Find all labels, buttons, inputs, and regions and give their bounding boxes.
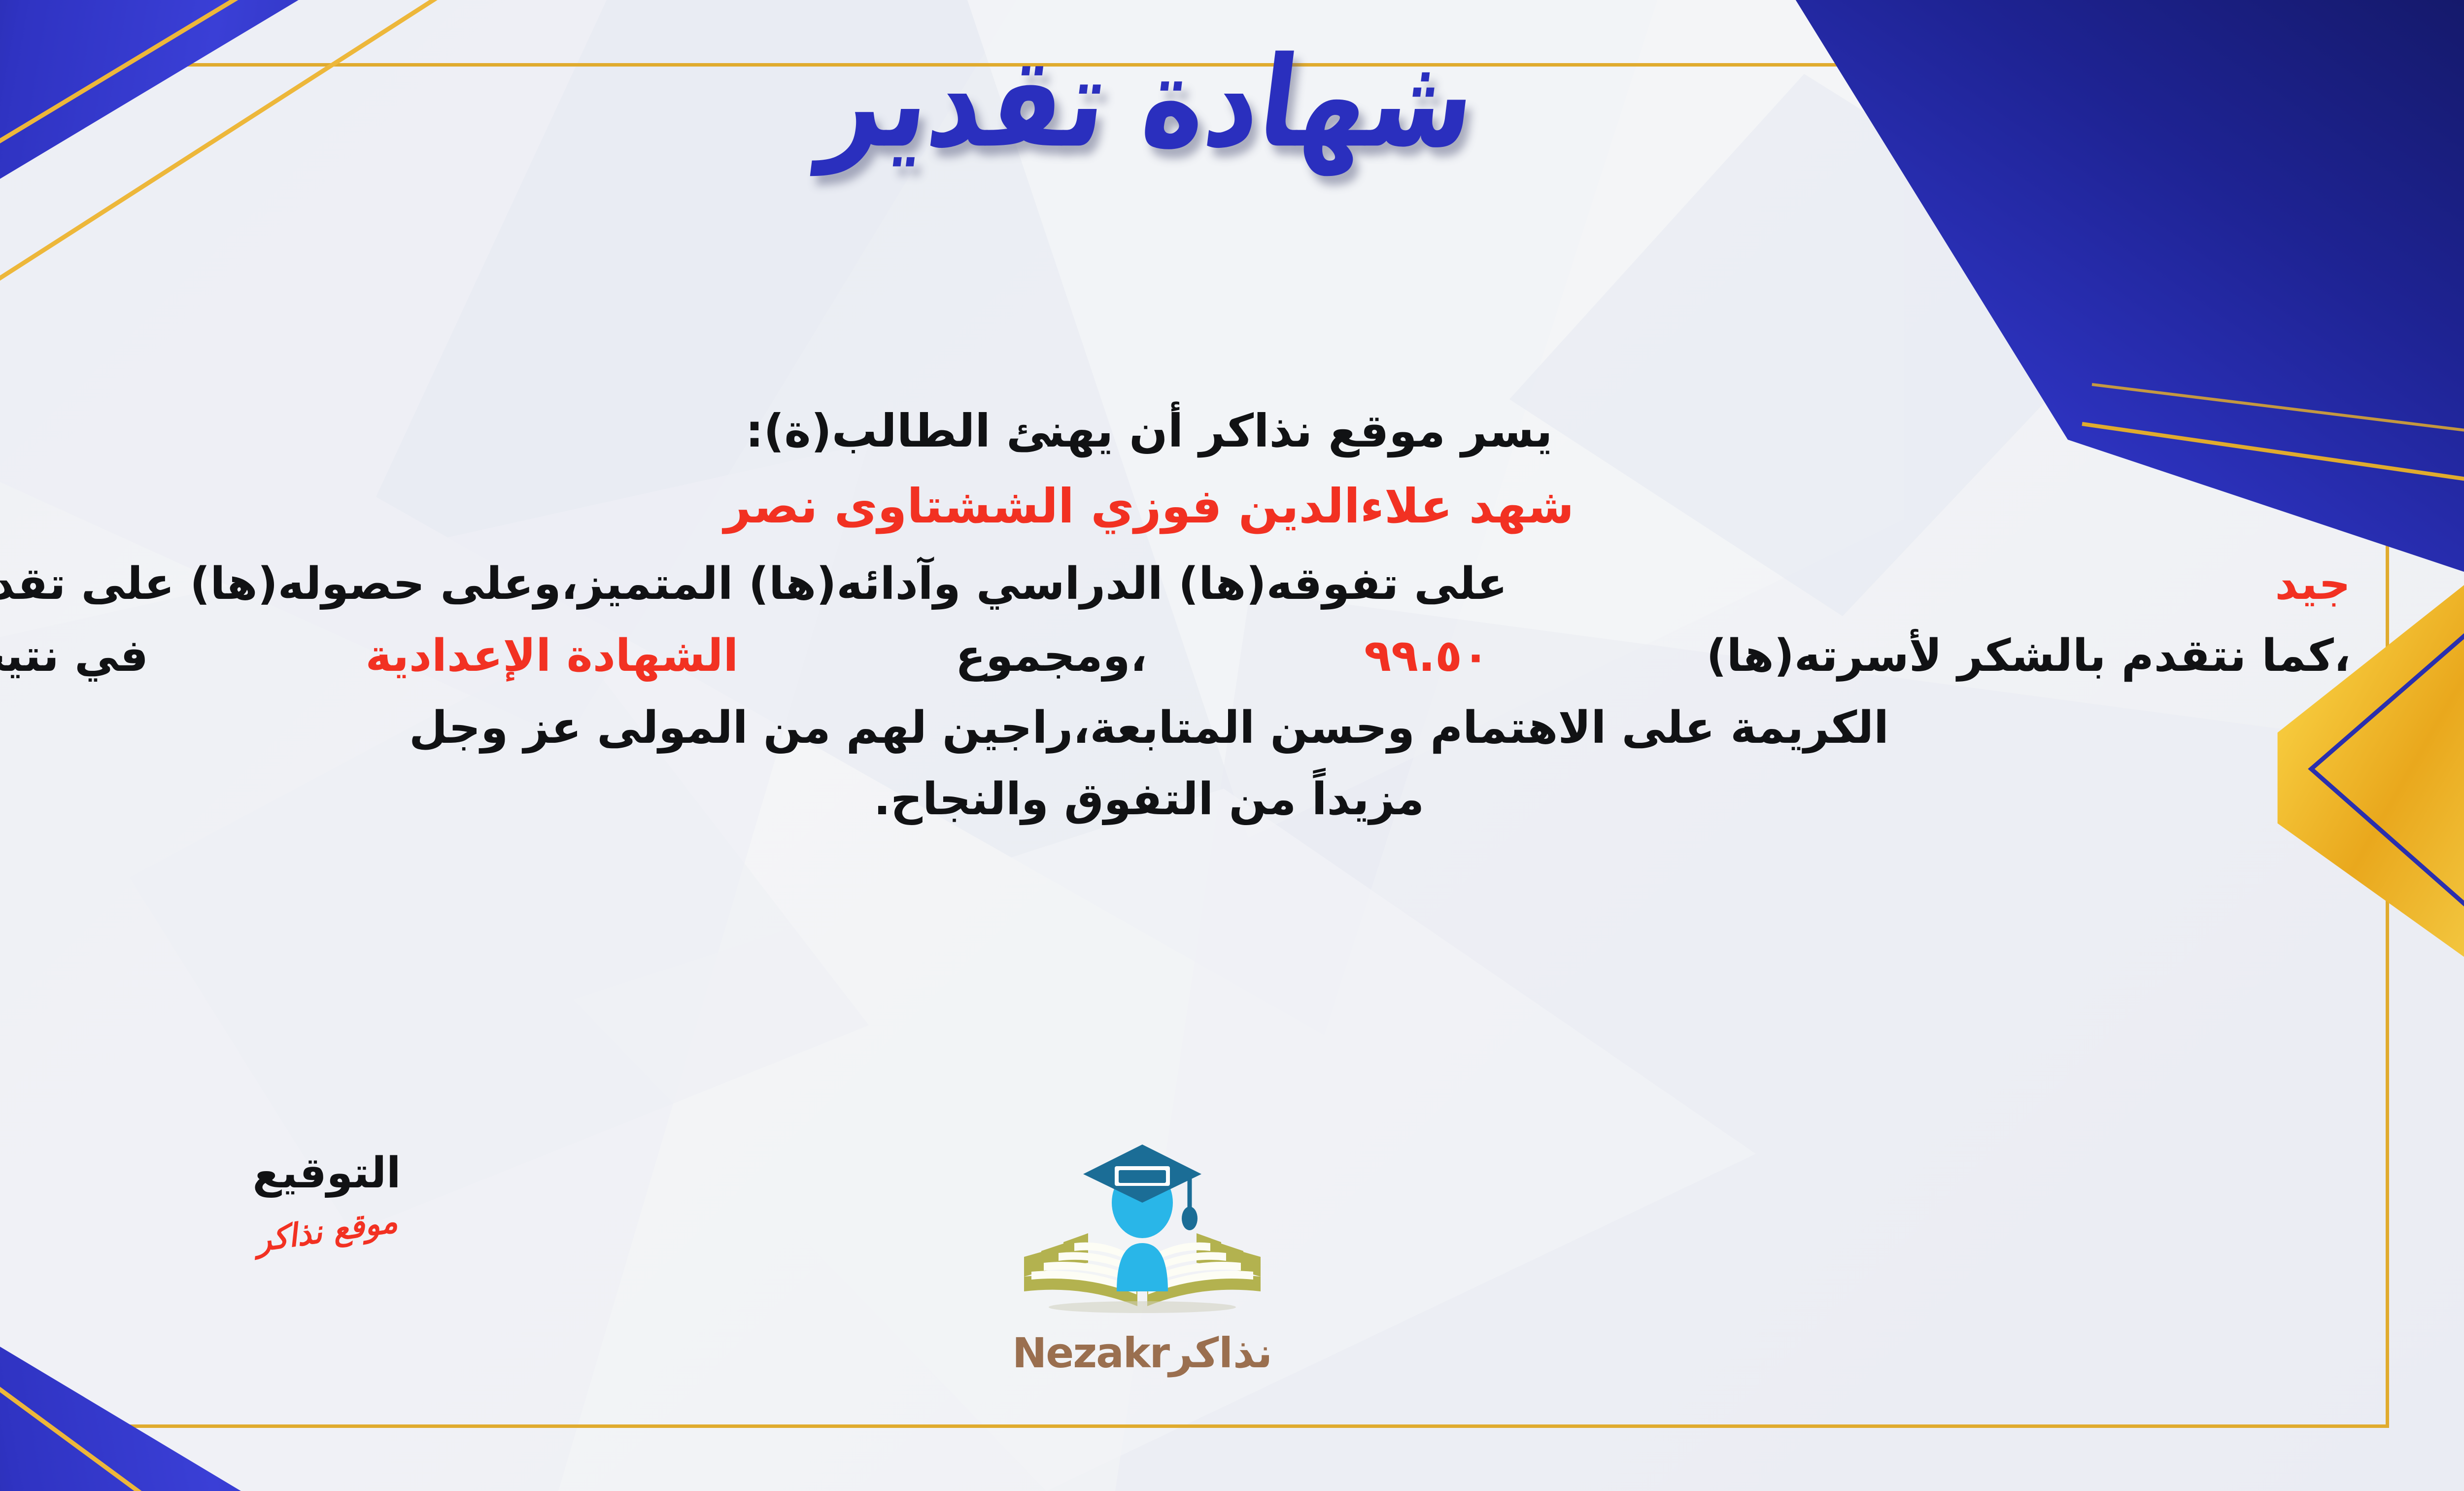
thanks-text: ،كما نتقدم بالشكر لأسرته(ها): [1706, 624, 2351, 688]
exam-name: الشهادة الإعدادية: [366, 624, 739, 688]
site-logo: Nezakrنذاكر: [970, 1129, 1315, 1377]
family-thanks-line: الكريمة على الاهتمام وحسن المتابعة،راجين…: [0, 696, 2351, 760]
total-score: ٩٩.٥٠: [1364, 624, 1489, 688]
total-label: ،ومجموع: [956, 624, 1147, 688]
student-name: شهد علاءالدين فوزي الششتاوى نصر: [0, 473, 2351, 540]
closing-line: مزيداً من التفوق والنجاح.: [0, 768, 2351, 831]
logo-wordmark: Nezakrنذاكر: [970, 1329, 1315, 1377]
result-prefix: في نتيجة: [0, 624, 148, 688]
grade-value: جيد: [2275, 553, 2351, 616]
result-line: ،كما نتقدم بالشكر لأسرته(ها) ٩٩.٥٠ ،ومجم…: [0, 624, 2351, 688]
signature-label: التوقيع: [223, 1148, 430, 1198]
certificate-body: يسر موقع نذاكر أن يهنئ الطالب(ة): شهد عل…: [0, 399, 2351, 840]
achievement-line: جيد على تفوقه(ها) الدراسي وآدائه(ها) الم…: [0, 553, 2351, 616]
signature-block: التوقيع موقع نذاكر: [223, 1148, 430, 1249]
intro-line: يسر موقع نذاكر أن يهنئ الطالب(ة):: [0, 399, 2351, 464]
page-title: شهادة تقدير: [816, 37, 1482, 168]
graduate-book-logo-icon: [1004, 1129, 1280, 1326]
achievement-text: على تفوقه(ها) الدراسي وآدائه(ها) المتميز…: [0, 553, 1507, 616]
certificate-page: شهادة تقدير يسر موقع نذاكر أن يهنئ الطال…: [0, 0, 2464, 1491]
title-block: شهادة تقدير: [0, 47, 2464, 158]
